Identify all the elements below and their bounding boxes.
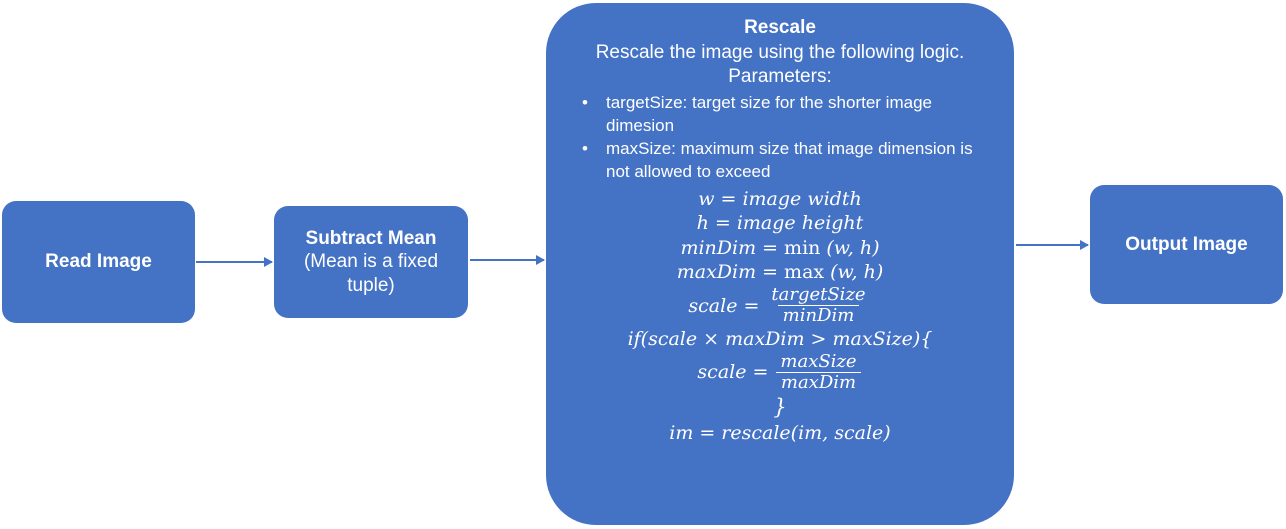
math-args: (w, h) [830, 260, 883, 284]
flowchart-canvas: Read Image Subtract Mean (Mean is a fixe… [0, 0, 1286, 529]
node-output-image[interactable]: Output Image [1090, 185, 1283, 304]
list-item: • maxSize: maximum size that image dimen… [560, 138, 1000, 183]
math-rhs: image width [742, 187, 861, 211]
math-lhs: h [697, 211, 709, 235]
math-eq: = [743, 294, 759, 318]
math-rhs: rescale(im, scale) [721, 421, 890, 445]
math-lhs: w [698, 187, 714, 211]
math-lhs: im [669, 421, 693, 445]
math-line-width: w = image width [560, 187, 1000, 211]
math-eq: = [715, 211, 731, 235]
node-output-image-label: Output Image [1090, 233, 1283, 256]
math-lhs: minDim [680, 236, 756, 260]
math-eq: = [752, 360, 768, 384]
math-denominator: minDim [778, 305, 860, 326]
math-denominator: maxDim [776, 372, 861, 393]
math-fraction: targetSize minDim [766, 285, 870, 326]
node-subtract-mean[interactable]: Subtract Mean (Mean is a fixed tuple) [274, 206, 468, 318]
node-read-image-label: Read Image [2, 250, 195, 273]
math-numerator: maxSize [775, 352, 861, 372]
node-subtract-mean-line3: tuple) [282, 274, 460, 297]
rescale-pseudocode: w = image width h = image height minDim … [560, 187, 1000, 445]
math-fn: min [784, 236, 820, 260]
list-item-label: targetSize: target size for the shorter … [606, 93, 932, 134]
arrow-read-image-to-subtract-mean [196, 261, 272, 263]
math-eq: = [762, 260, 778, 284]
list-item-label: maxSize: maximum size that image dimensi… [606, 139, 973, 180]
node-read-image[interactable]: Read Image [2, 201, 195, 323]
math-line-scale-target: scale = targetSize minDim [560, 285, 1000, 326]
bullet-icon: • [582, 92, 588, 114]
list-item: • targetSize: target size for the shorte… [560, 92, 1000, 137]
node-subtract-mean-line1: Subtract Mean [282, 227, 460, 250]
node-subtract-mean-text: Subtract Mean (Mean is a fixed tuple) [274, 227, 468, 297]
math-fn: max [784, 260, 824, 284]
rescale-parameter-list: • targetSize: target size for the shorte… [560, 92, 1000, 183]
math-line-close-brace: } [560, 394, 1000, 421]
math-line-mindim: minDim = min (w, h) [560, 236, 1000, 260]
math-numerator: targetSize [766, 285, 870, 305]
arrow-rescale-to-output-image [1016, 244, 1088, 246]
math-line-maxdim: maxDim = max (w, h) [560, 260, 1000, 284]
math-args: (w, h) [826, 236, 879, 260]
math-fraction: maxSize maxDim [775, 352, 861, 393]
math-rhs: image height [737, 211, 863, 235]
math-line-scale-max: scale = maxSize maxDim [560, 352, 1000, 393]
math-line-if: if(scale × maxDim > maxSize){ [560, 327, 1000, 351]
bullet-icon: • [582, 138, 588, 160]
math-lhs: scale [688, 294, 737, 318]
math-eq: = [699, 421, 715, 445]
rescale-title: Rescale [560, 16, 1000, 40]
node-rescale[interactable]: Rescale Rescale the image using the foll… [546, 3, 1014, 525]
node-subtract-mean-line2: (Mean is a fixed [282, 250, 460, 273]
math-eq: = [721, 187, 737, 211]
arrow-subtract-mean-to-rescale [470, 259, 544, 261]
math-line-height: h = image height [560, 211, 1000, 235]
rescale-subtitle: Rescale the image using the following lo… [560, 41, 1000, 90]
math-condition: if(scale × maxDim > maxSize){ [628, 327, 933, 351]
math-lhs: scale [697, 360, 746, 384]
math-close-brace: } [773, 394, 786, 421]
math-eq: = [762, 236, 778, 260]
math-lhs: maxDim [677, 260, 756, 284]
math-line-result: im = rescale(im, scale) [560, 421, 1000, 445]
